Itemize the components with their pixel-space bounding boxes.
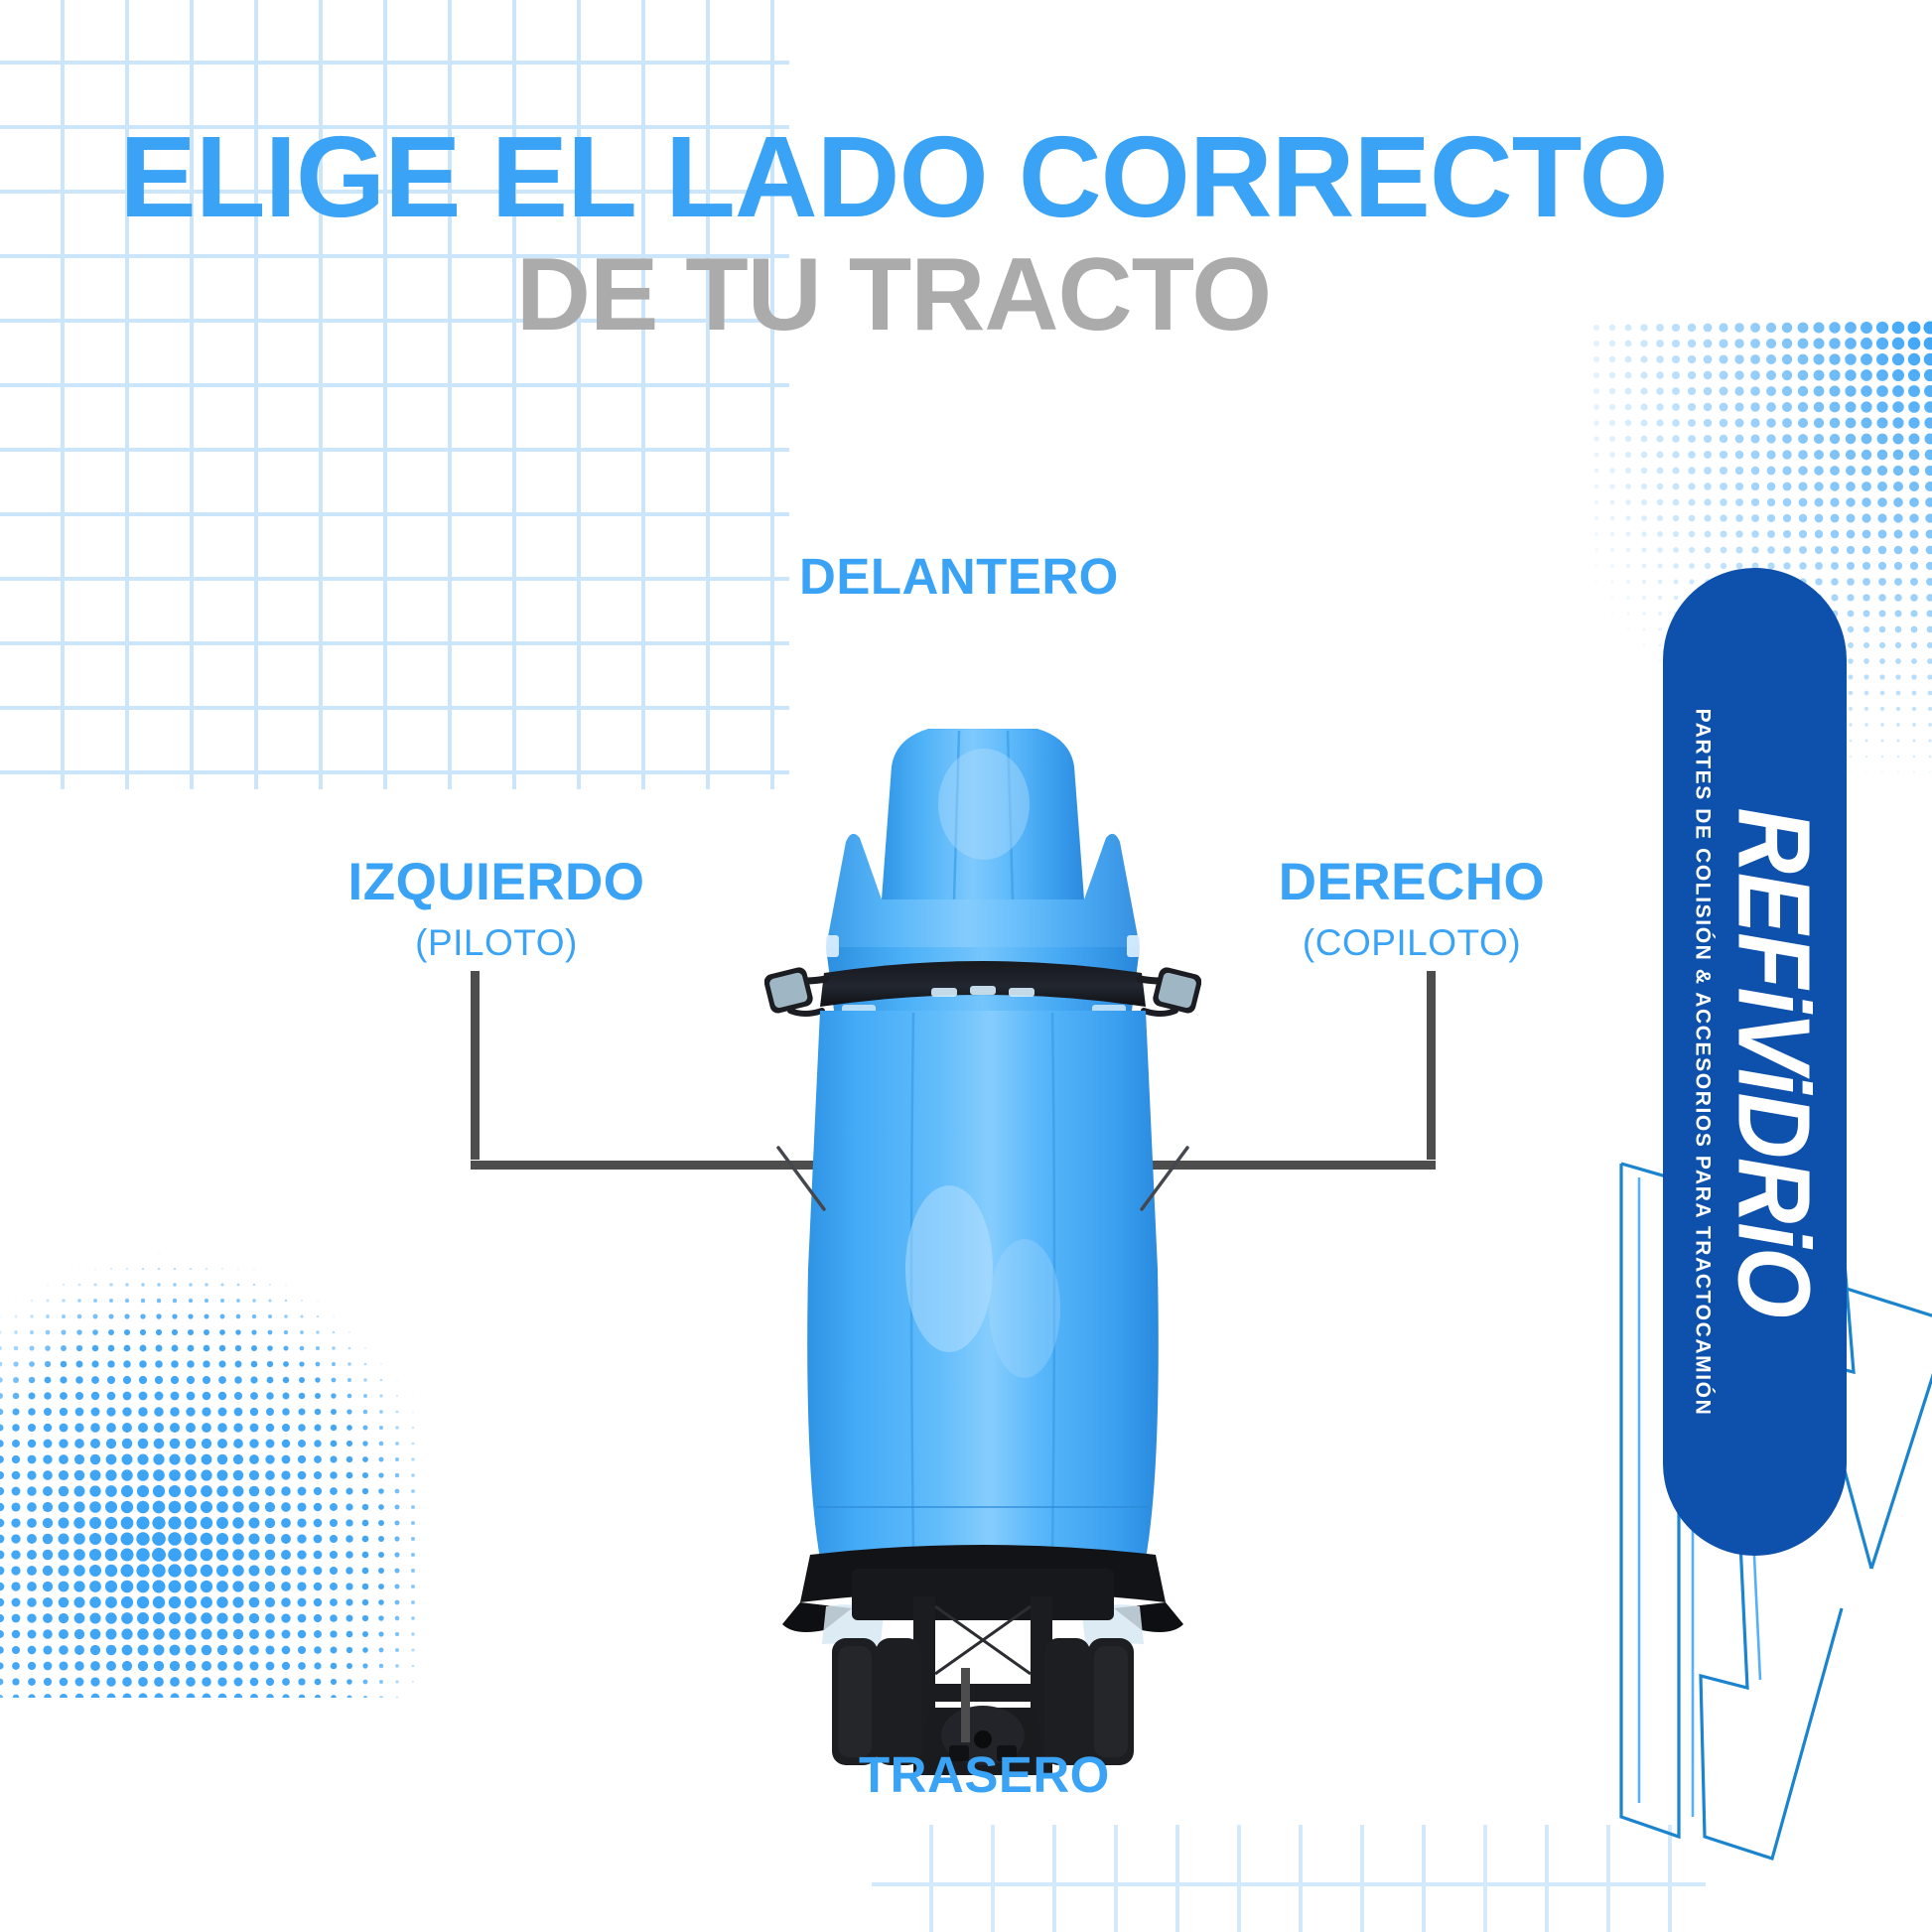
rear-callout-stem bbox=[961, 1668, 970, 1742]
label-left-title: IZQUIERDO bbox=[333, 856, 660, 908]
label-left: IZQUIERDO (PILOTO) bbox=[333, 856, 660, 961]
label-rear: TRASERO bbox=[859, 1749, 1110, 1800]
label-front-title: DELANTERO bbox=[799, 551, 1119, 602]
poster-canvas: ELIGE EL LADO CORRECTO DE TU TRACTO DELA… bbox=[0, 0, 1932, 1932]
headline-line-1: ELIGE EL LADO CORRECTO bbox=[0, 121, 1787, 233]
brand-tagline: PARTES DE COLISIÓN & ACCESORIOS PARA TRA… bbox=[1691, 708, 1715, 1416]
label-left-subtitle: (PILOTO) bbox=[333, 924, 660, 961]
label-right-subtitle: (COPILOTO) bbox=[1263, 924, 1561, 961]
brand-badge: REFiViDRiO PARTES DE COLISIÓN & ACCESORI… bbox=[1663, 568, 1847, 1556]
headline-line-2: DE TU TRACTO bbox=[0, 243, 1787, 346]
headline-block: ELIGE EL LADO CORRECTO DE TU TRACTO bbox=[0, 121, 1787, 346]
bracket-arm-right bbox=[1427, 971, 1436, 1160]
halftone-bottom-left bbox=[0, 1181, 417, 1698]
semi-truck-top-view-icon bbox=[764, 713, 1201, 1775]
bracket-arm-left bbox=[471, 971, 480, 1160]
label-front: DELANTERO bbox=[799, 551, 1119, 602]
brand-name: REFiViDRiO bbox=[1723, 807, 1825, 1316]
label-right: DERECHO (COPILOTO) bbox=[1263, 856, 1561, 961]
label-right-title: DERECHO bbox=[1263, 856, 1561, 908]
label-rear-title: TRASERO bbox=[859, 1749, 1110, 1800]
